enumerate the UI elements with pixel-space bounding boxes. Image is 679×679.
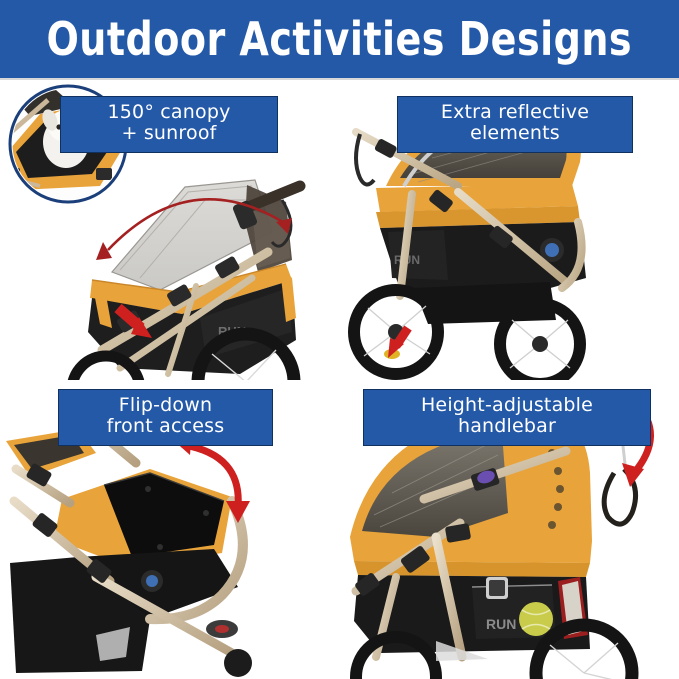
feature-grid: RUN bbox=[0, 82, 679, 679]
brand-text-run: RUN bbox=[486, 616, 516, 632]
logo-badge bbox=[146, 575, 158, 587]
caption-front-access: Flip-down front access bbox=[58, 389, 273, 446]
feature-panel-canopy: RUN bbox=[0, 82, 339, 380]
stroller-rim bbox=[350, 537, 592, 563]
feature-panel-front-access: Flip-down front access bbox=[0, 381, 339, 679]
page-title: Outdoor Activities Designs bbox=[47, 16, 633, 62]
front-wheel-hub bbox=[224, 649, 252, 677]
caption-reflective: Extra reflective elements bbox=[397, 96, 633, 153]
logo-badge bbox=[545, 243, 559, 257]
title-banner: Outdoor Activities Designs bbox=[0, 0, 679, 78]
caption-handlebar: Height-adjustable handlebar bbox=[363, 389, 651, 446]
tennis-ball bbox=[519, 602, 553, 636]
banner-divider bbox=[0, 78, 679, 80]
caption-canopy: 150° canopy + sunroof bbox=[60, 96, 278, 153]
feature-panel-reflective: RUN bbox=[340, 82, 679, 380]
feature-panel-handlebar: RUN bbox=[340, 381, 679, 679]
infographic-page: Outdoor Activities Designs bbox=[0, 0, 679, 679]
